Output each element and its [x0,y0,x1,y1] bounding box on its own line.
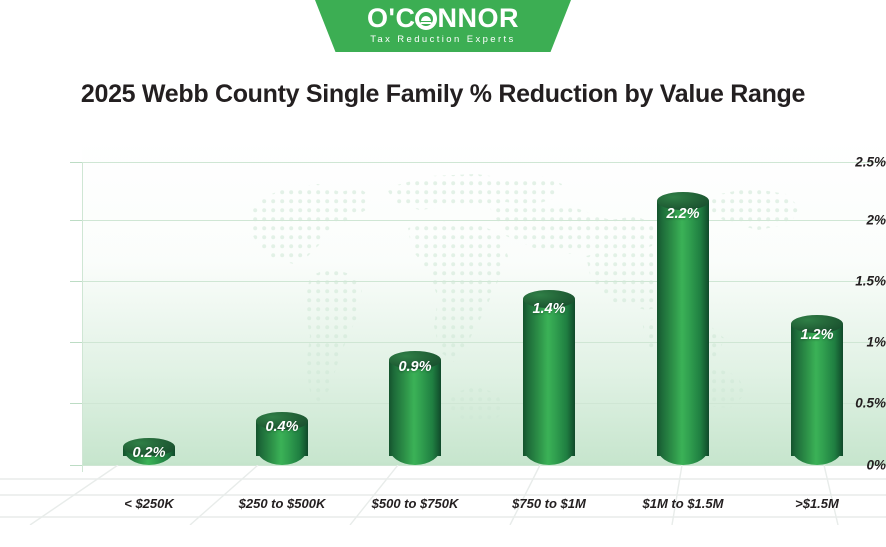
bar-value-label-3: 1.4% [532,301,565,317]
ytick-dash-0-5 [70,403,82,404]
bar-cylinder-2[interactable]: 0.9% [389,351,441,465]
bar-base-3 [523,447,575,465]
bar-value-label-1: 0.4% [265,419,298,435]
bar-series: 0.2% 0.4% 0.9% [82,128,886,465]
bar-slot-5: 1.2% [752,128,882,465]
bar-slot-0: 0.2% [84,128,214,465]
chart-title: 2025 Webb County Single Family % Reducti… [0,80,886,109]
bar-base-1 [256,447,308,465]
xtick-label-5: >$1.5M [737,496,886,511]
bar-cylinder-5[interactable]: 1.2% [791,315,843,465]
ytick-dash-2-5 [70,162,82,163]
bar-base-5 [791,447,843,465]
bar-slot-2: 0.9% [350,128,480,465]
plot-area: 0% 0.5% 1% 1.5% 2% 2.5% [0,128,886,547]
house-in-circle-icon [415,8,437,30]
ytick-dash-1-5 [70,281,82,282]
bar-cylinder-0[interactable]: 0.2% [123,438,175,465]
bar-body-5 [791,324,843,456]
bar-base-2 [389,447,441,465]
ytick-dash-2 [70,220,82,221]
logo-text-part1: O'C [367,5,415,32]
bar-slot-3: 1.4% [484,128,614,465]
bar-cylinder-4[interactable]: 2.2% [657,192,709,465]
logo-text-part2: NNOR [437,5,519,32]
bar-slot-4: 2.2% [618,128,748,465]
bar-base-4 [657,447,709,465]
bar-slot-1: 0.4% [217,128,347,465]
bar-value-label-5: 1.2% [800,327,833,343]
ytick-dash-1 [70,342,82,343]
chart-page: O'C NNOR Tax Reduction Experts 2025 Webb… [0,0,886,547]
bar-body-3 [523,299,575,456]
perspective-floor [0,465,886,525]
bar-value-label-0: 0.2% [132,445,165,461]
bar-value-label-4: 2.2% [666,206,699,222]
logo-wordmark: O'C NNOR [367,5,519,32]
bar-cylinder-1[interactable]: 0.4% [256,412,308,465]
logo-tagline: Tax Reduction Experts [370,34,515,45]
bar-cylinder-3[interactable]: 1.4% [523,290,575,465]
oconnor-logo-banner: O'C NNOR Tax Reduction Experts [315,0,571,52]
bar-value-label-2: 0.9% [398,359,431,375]
bar-body-4 [657,201,709,456]
